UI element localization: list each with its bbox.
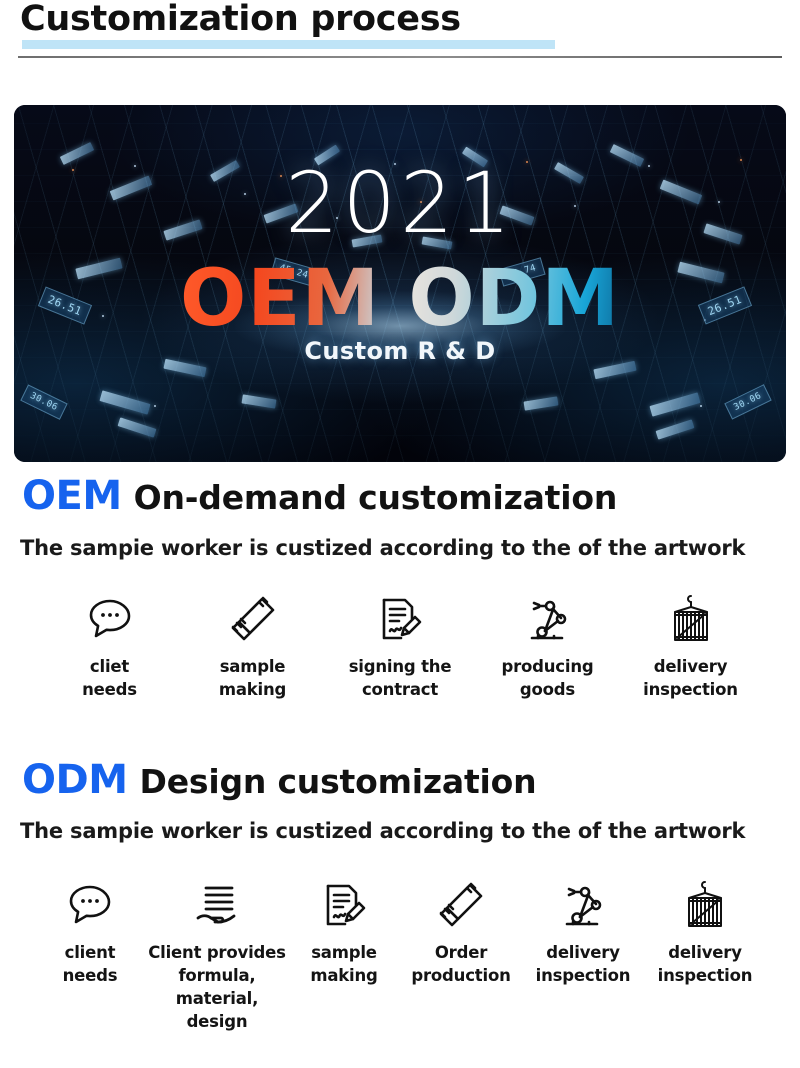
step-label: clietneeds: [82, 655, 137, 701]
hero-brand-odm: ODM: [408, 254, 620, 344]
step-label: Orderproduction: [411, 941, 510, 987]
hero-tagline: Custom R & D: [14, 337, 786, 365]
oem-tag: OEM: [22, 473, 122, 519]
step-label: samplemaking: [310, 941, 377, 987]
step-signing-the-contract[interactable]: signing thecontract: [324, 592, 476, 701]
header-divider-rule: [18, 56, 782, 58]
step-label: Client providesformula,material,design: [148, 941, 286, 1033]
pencil-ruler-icon: [434, 878, 488, 932]
odm-section-heading: ODMDesign customization: [22, 757, 536, 811]
step-producing-goods[interactable]: producinggoods: [476, 592, 619, 701]
step-label: signing thecontract: [349, 655, 452, 701]
chat-bubbles-icon: [83, 592, 137, 646]
step-label: deliveryinspection: [658, 941, 753, 987]
shipping-crate-icon: [678, 878, 732, 932]
step-label: samplemaking: [219, 655, 286, 701]
hero-year-text: 2021: [14, 155, 786, 251]
title-underline-accent: [22, 40, 555, 49]
odm-headline: Design customization: [140, 762, 537, 801]
oem-step-list: clietneeds samplemaking: [20, 592, 780, 701]
contract-signature-icon: [317, 878, 371, 932]
step-delivery-inspection-crate[interactable]: deliveryinspection: [644, 878, 766, 987]
hero-brand-text: OEM ODM: [14, 253, 786, 345]
step-sample-making[interactable]: samplemaking: [288, 878, 400, 987]
oem-subtitle: The sampie worker is custized according …: [20, 535, 745, 561]
hero-banner: 26.51 26.51 45.24 26.74 30.06 30.06 2021…: [14, 105, 786, 462]
step-client-needs[interactable]: clientneeds: [34, 878, 146, 987]
step-cliet-needs[interactable]: clietneeds: [38, 592, 181, 701]
step-label: deliveryinspection: [643, 655, 738, 701]
odm-step-list: clientneeds Client providesformula,mater…: [20, 878, 780, 1033]
step-client-provides[interactable]: Client providesformula,material,design: [146, 878, 288, 1033]
pencil-ruler-icon: [226, 592, 280, 646]
robot-arm-icon: [556, 878, 610, 932]
contract-signature-icon: [373, 592, 427, 646]
step-delivery-inspection-robot[interactable]: deliveryinspection: [522, 878, 644, 987]
oem-headline: On-demand customization: [134, 478, 617, 517]
shipping-crate-icon: [664, 592, 718, 646]
step-order-production[interactable]: Orderproduction: [400, 878, 522, 987]
step-label: deliveryinspection: [536, 941, 631, 987]
chat-bubbles-icon: [63, 878, 117, 932]
oem-section-heading: OEMOn-demand customization: [22, 473, 617, 527]
step-sample-making[interactable]: samplemaking: [181, 592, 324, 701]
step-label: producinggoods: [501, 655, 593, 701]
odm-subtitle: The sampie worker is custized according …: [20, 818, 745, 844]
hand-documents-icon: [190, 878, 244, 932]
step-label: clientneeds: [63, 941, 118, 987]
robot-arm-icon: [521, 592, 575, 646]
step-delivery-inspection[interactable]: deliveryinspection: [619, 592, 762, 701]
page-title: Customization process: [20, 0, 461, 40]
customization-process-page: Customization process: [0, 0, 800, 1068]
odm-tag: ODM: [22, 757, 128, 803]
hero-brand-oem: OEM: [180, 254, 380, 344]
